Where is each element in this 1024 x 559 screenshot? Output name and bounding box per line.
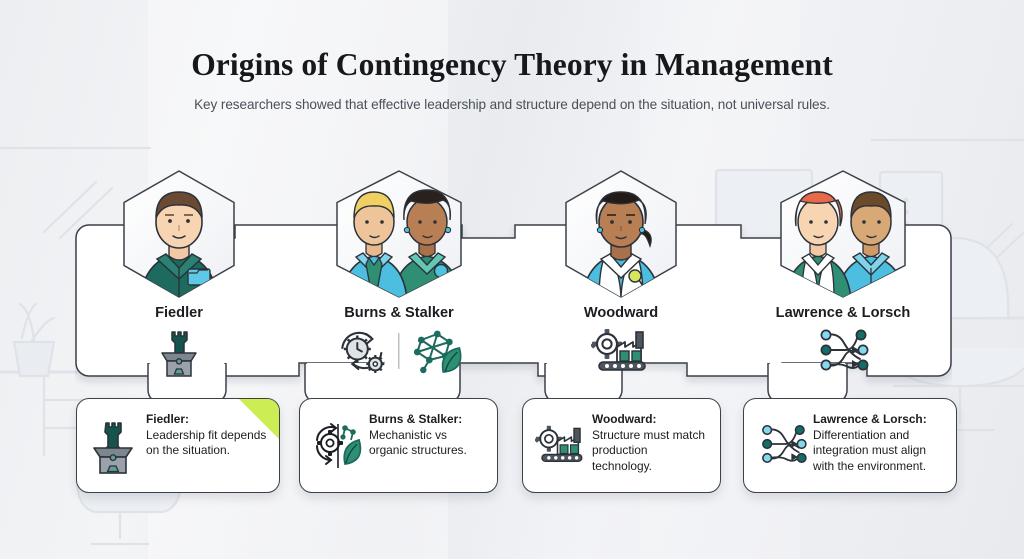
person-name-fiedler: Fiedler xyxy=(155,305,203,321)
single-woman-avatar-icon xyxy=(560,168,682,301)
network-nodes-icon xyxy=(756,418,810,470)
badge-divider xyxy=(398,333,399,369)
network-leaf-icon xyxy=(408,326,464,376)
person-name-lawrence-lorsch: Lawrence & Lorsch xyxy=(776,305,911,321)
card-icon-lawrence-lorsch xyxy=(756,412,808,470)
chess-rook-pedestal-icon xyxy=(89,418,137,476)
person-fiedler[interactable]: Fiedler xyxy=(118,168,240,301)
card-burns-stalker[interactable]: Burns & Stalker: Mechanistic vs organic … xyxy=(299,398,498,493)
avatar-hex-lawrence-lorsch xyxy=(775,168,911,301)
chess-rook-pedestal-icon xyxy=(152,326,206,378)
badge-woodward[interactable] xyxy=(591,326,651,374)
card-body-lawrence-lorsch: Differentiation and integration must ali… xyxy=(813,428,926,473)
card-body-woodward: Structure must match production technolo… xyxy=(592,428,705,473)
card-fiedler[interactable]: Fiedler: Leadership fit depends on the s… xyxy=(76,398,280,493)
person-burns-stalker[interactable]: Burns & Stalker xyxy=(331,168,467,301)
gears-clock-icon xyxy=(334,326,390,376)
avatar-hex-burns-stalker xyxy=(331,168,467,301)
two-people-avatar-icon xyxy=(775,168,911,301)
person-name-woodward: Woodward xyxy=(584,305,658,321)
badge-burns-stalker[interactable] xyxy=(334,326,463,376)
card-text-burns-stalker: Burns & Stalker: Mechanistic vs organic … xyxy=(364,412,485,459)
card-text-lawrence-lorsch: Lawrence & Lorsch: Differentiation and i… xyxy=(808,412,944,474)
avatar-hex-fiedler xyxy=(118,168,240,301)
gear-leaf-icon xyxy=(312,418,362,470)
card-accent-corner xyxy=(239,399,279,439)
single-man-avatar-icon xyxy=(118,168,240,301)
card-title-lawrence-lorsch: Lawrence & Lorsch: xyxy=(813,412,944,428)
card-title-woodward: Woodward: xyxy=(592,412,708,428)
avatar-hex-woodward xyxy=(560,168,682,301)
gear-factory-icon xyxy=(591,326,651,374)
card-body-burns-stalker: Mechanistic vs organic structures. xyxy=(369,428,467,458)
card-title-burns-stalker: Burns & Stalker: xyxy=(369,412,485,428)
card-icon-woodward xyxy=(535,412,587,470)
person-name-burns-stalker: Burns & Stalker xyxy=(344,305,454,321)
badge-fiedler[interactable] xyxy=(152,326,206,378)
card-lawrence-lorsch[interactable]: Lawrence & Lorsch: Differentiation and i… xyxy=(743,398,957,493)
person-lawrence-lorsch[interactable]: Lawrence & Lorsch xyxy=(775,168,911,301)
gear-factory-icon xyxy=(535,418,587,470)
card-icon-burns-stalker xyxy=(312,412,364,470)
badge-lawrence-lorsch[interactable] xyxy=(814,326,872,374)
card-woodward[interactable]: Woodward: Structure must match productio… xyxy=(522,398,721,493)
two-people-avatar-icon xyxy=(331,168,467,301)
card-icon-fiedler xyxy=(89,412,141,476)
network-nodes-icon xyxy=(814,326,872,374)
person-woodward[interactable]: Woodward xyxy=(560,168,682,301)
card-text-woodward: Woodward: Structure must match productio… xyxy=(587,412,708,474)
